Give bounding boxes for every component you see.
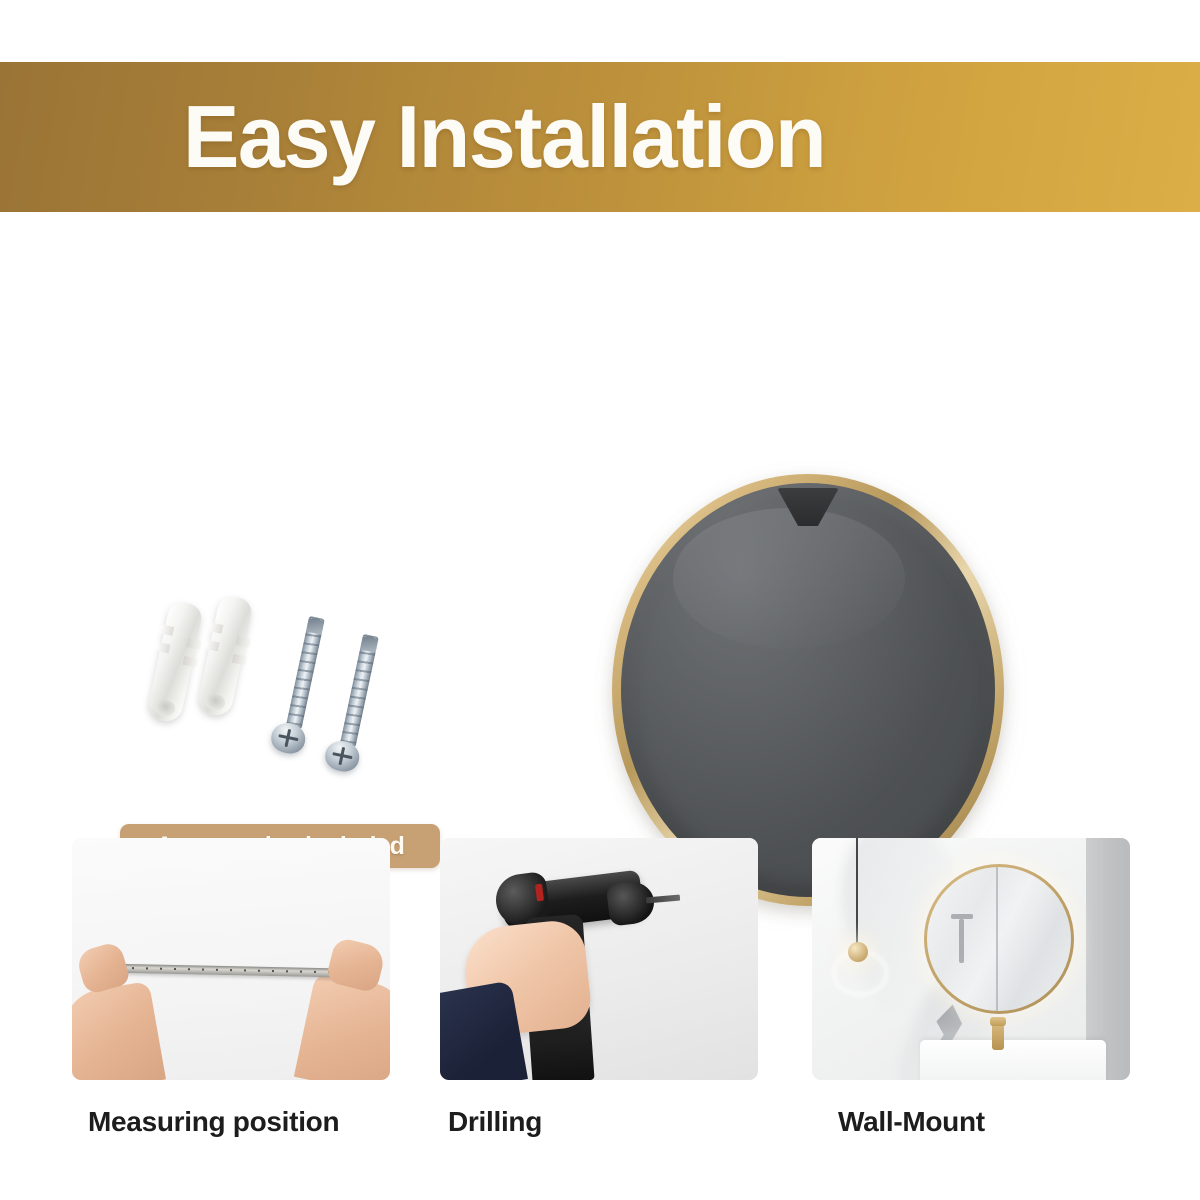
- step-measuring-position: Measuring position: [72, 838, 390, 1138]
- photo-measuring-position: [72, 838, 390, 1080]
- mounting-screw-icon: [278, 615, 328, 752]
- pendant-cord: [856, 838, 858, 946]
- wall-anchor-icon: [196, 594, 254, 718]
- hero-section: Accessories included: [0, 212, 1200, 832]
- step-caption: Measuring position: [88, 1106, 390, 1138]
- mounting-screw-icon: [332, 633, 382, 770]
- page-title: Easy Installation: [183, 93, 825, 181]
- pendant-light-icon: [848, 942, 868, 962]
- bathroom-sink: [920, 1040, 1106, 1080]
- photo-drilling: [440, 838, 758, 1080]
- photo-wall-mount: [812, 838, 1130, 1080]
- step-caption: Wall-Mount: [838, 1106, 1130, 1138]
- wall-anchor-icon: [146, 600, 204, 724]
- accessories-group: [150, 590, 430, 775]
- mirror-sheen: [673, 508, 905, 649]
- gold-faucet-icon: [992, 1024, 1004, 1050]
- step-drilling: Drilling: [440, 838, 758, 1138]
- step-caption: Drilling: [448, 1106, 758, 1138]
- mounted-round-mirror: [924, 864, 1074, 1014]
- step-wall-mount: Wall-Mount: [812, 838, 1130, 1138]
- header-banner: Easy Installation: [0, 62, 1200, 212]
- installation-steps: Measuring position Drilling: [0, 832, 1200, 1200]
